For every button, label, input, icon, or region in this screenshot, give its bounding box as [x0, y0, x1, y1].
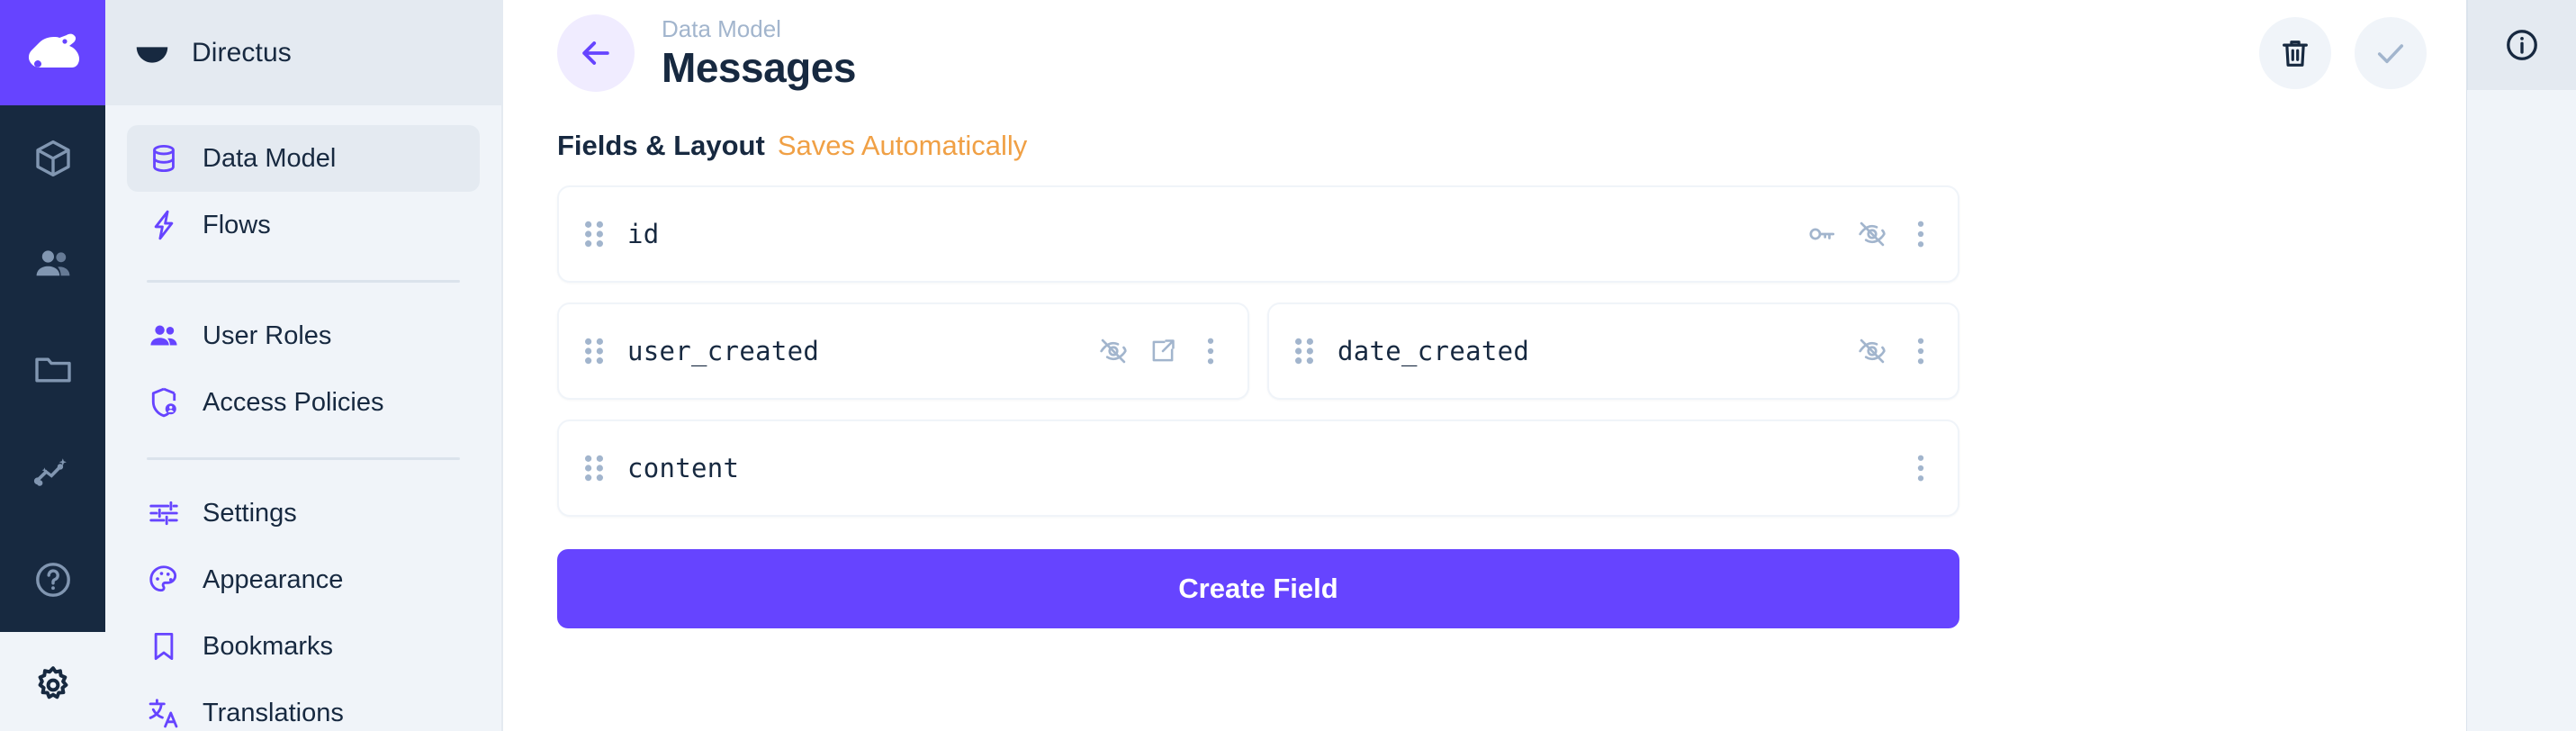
field-actions	[1907, 453, 1934, 483]
drag-handle-icon[interactable]	[1289, 336, 1320, 366]
field-actions	[1806, 219, 1934, 249]
title-block: Data Model Messages	[662, 14, 856, 91]
external-link-icon[interactable]	[1148, 337, 1177, 365]
sidebar-item-appearance[interactable]: Appearance	[127, 546, 480, 613]
directus-logo[interactable]	[0, 0, 105, 105]
save-button[interactable]	[2355, 17, 2427, 89]
bolt-icon	[145, 206, 183, 244]
more-vertical-icon[interactable]	[1907, 453, 1934, 483]
module-item-users[interactable]	[0, 211, 105, 316]
field-name: content	[627, 453, 739, 483]
sidebar-item-label: User Roles	[203, 321, 331, 351]
right-rail-body	[2467, 90, 2576, 731]
insights-icon	[32, 453, 75, 496]
gear-icon	[32, 663, 75, 707]
sidebar-item-data-model[interactable]: Data Model	[127, 125, 480, 192]
palette-icon	[145, 561, 183, 599]
bookmark-icon	[145, 627, 183, 665]
sidebar-item-label: Bookmarks	[203, 632, 333, 662]
trash-icon	[2278, 36, 2312, 70]
module-item-help[interactable]	[0, 527, 105, 632]
section-head: Fields & Layout Saves Automatically	[557, 130, 2466, 162]
drag-handle-icon[interactable]	[579, 453, 609, 483]
sidebar-header: Directus	[105, 0, 501, 105]
eye-off-icon[interactable]	[1857, 336, 1887, 366]
help-circle-icon	[32, 558, 75, 601]
field-name: user_created	[627, 336, 819, 366]
app-root: Directus Data Model	[0, 0, 2576, 731]
sidebar-item-label: Access Policies	[203, 388, 383, 418]
sidebar-item-label: Translations	[203, 699, 344, 728]
field-name: date_created	[1338, 336, 1529, 366]
sidebar-item-user-roles[interactable]: User Roles	[127, 302, 480, 369]
field-name: id	[627, 219, 660, 249]
people-icon	[32, 242, 75, 285]
field-row: user_created	[557, 302, 1959, 400]
sidebar-item-label: Flows	[203, 211, 271, 240]
content-body: Fields & Layout Saves Automatically	[503, 105, 2466, 628]
arrow-left-icon	[576, 33, 616, 73]
field-row: content	[557, 420, 1959, 517]
sidebar-item-label: Settings	[203, 499, 297, 528]
module-bar	[0, 0, 105, 731]
eye-off-icon[interactable]	[1857, 219, 1887, 249]
sidebar-item-label: Appearance	[203, 565, 343, 595]
autosave-note: Saves Automatically	[778, 130, 1027, 162]
sidebar-item-settings[interactable]: Settings	[127, 480, 480, 546]
header-actions	[2259, 17, 2427, 89]
more-vertical-icon[interactable]	[1907, 219, 1934, 249]
database-icon	[145, 140, 183, 177]
sidebar-item-translations[interactable]: Translations	[127, 680, 480, 731]
directus-mark-icon	[132, 33, 172, 73]
sidebar-header-title: Directus	[192, 38, 292, 68]
info-button[interactable]	[2467, 0, 2576, 90]
module-item-insights[interactable]	[0, 421, 105, 527]
nav-sidebar: Directus Data Model	[105, 0, 503, 731]
field-card-content[interactable]: content	[557, 420, 1959, 517]
field-card-date-created[interactable]: date_created	[1267, 302, 1959, 400]
field-actions	[1857, 336, 1934, 366]
sidebar-item-flows[interactable]: Flows	[127, 192, 480, 258]
more-vertical-icon[interactable]	[1197, 336, 1224, 366]
field-actions	[1098, 336, 1224, 366]
delete-button[interactable]	[2259, 17, 2331, 89]
field-card-id[interactable]: id	[557, 185, 1959, 283]
main-content: Data Model Messages	[503, 0, 2466, 731]
check-icon	[2373, 35, 2409, 71]
module-item-files[interactable]	[0, 316, 105, 421]
field-card-user-created[interactable]: user_created	[557, 302, 1249, 400]
info-circle-icon	[2503, 26, 2541, 64]
box-icon	[32, 137, 75, 180]
more-vertical-icon[interactable]	[1907, 336, 1934, 366]
drag-handle-icon[interactable]	[579, 219, 609, 249]
sidebar-item-label: Data Model	[203, 144, 336, 174]
shield-user-icon	[145, 384, 183, 421]
people-icon	[145, 317, 183, 355]
field-row: id	[557, 185, 1959, 283]
sidebar-divider-1	[147, 280, 460, 283]
fields-list: id	[557, 185, 1959, 517]
key-icon[interactable]	[1806, 219, 1837, 249]
directus-rabbit-logo	[25, 33, 81, 73]
right-rail	[2466, 0, 2576, 731]
section-title: Fields & Layout	[557, 130, 765, 162]
sliders-icon	[145, 494, 183, 532]
sidebar-divider-2	[147, 457, 460, 460]
sidebar-nav-list: Data Model Flows	[105, 105, 501, 731]
sidebar-item-access-policies[interactable]: Access Policies	[127, 369, 480, 436]
breadcrumb[interactable]: Data Model	[662, 14, 856, 44]
folder-icon	[32, 347, 75, 391]
page-title: Messages	[662, 45, 856, 91]
eye-off-icon[interactable]	[1098, 336, 1129, 366]
translate-icon	[145, 694, 183, 731]
back-button[interactable]	[557, 14, 635, 92]
drag-handle-icon[interactable]	[579, 336, 609, 366]
sidebar-item-bookmarks[interactable]: Bookmarks	[127, 613, 480, 680]
module-item-settings[interactable]	[0, 632, 105, 731]
main-header: Data Model Messages	[503, 0, 2466, 105]
module-item-content[interactable]	[0, 105, 105, 211]
create-field-button[interactable]: Create Field	[557, 549, 1959, 628]
